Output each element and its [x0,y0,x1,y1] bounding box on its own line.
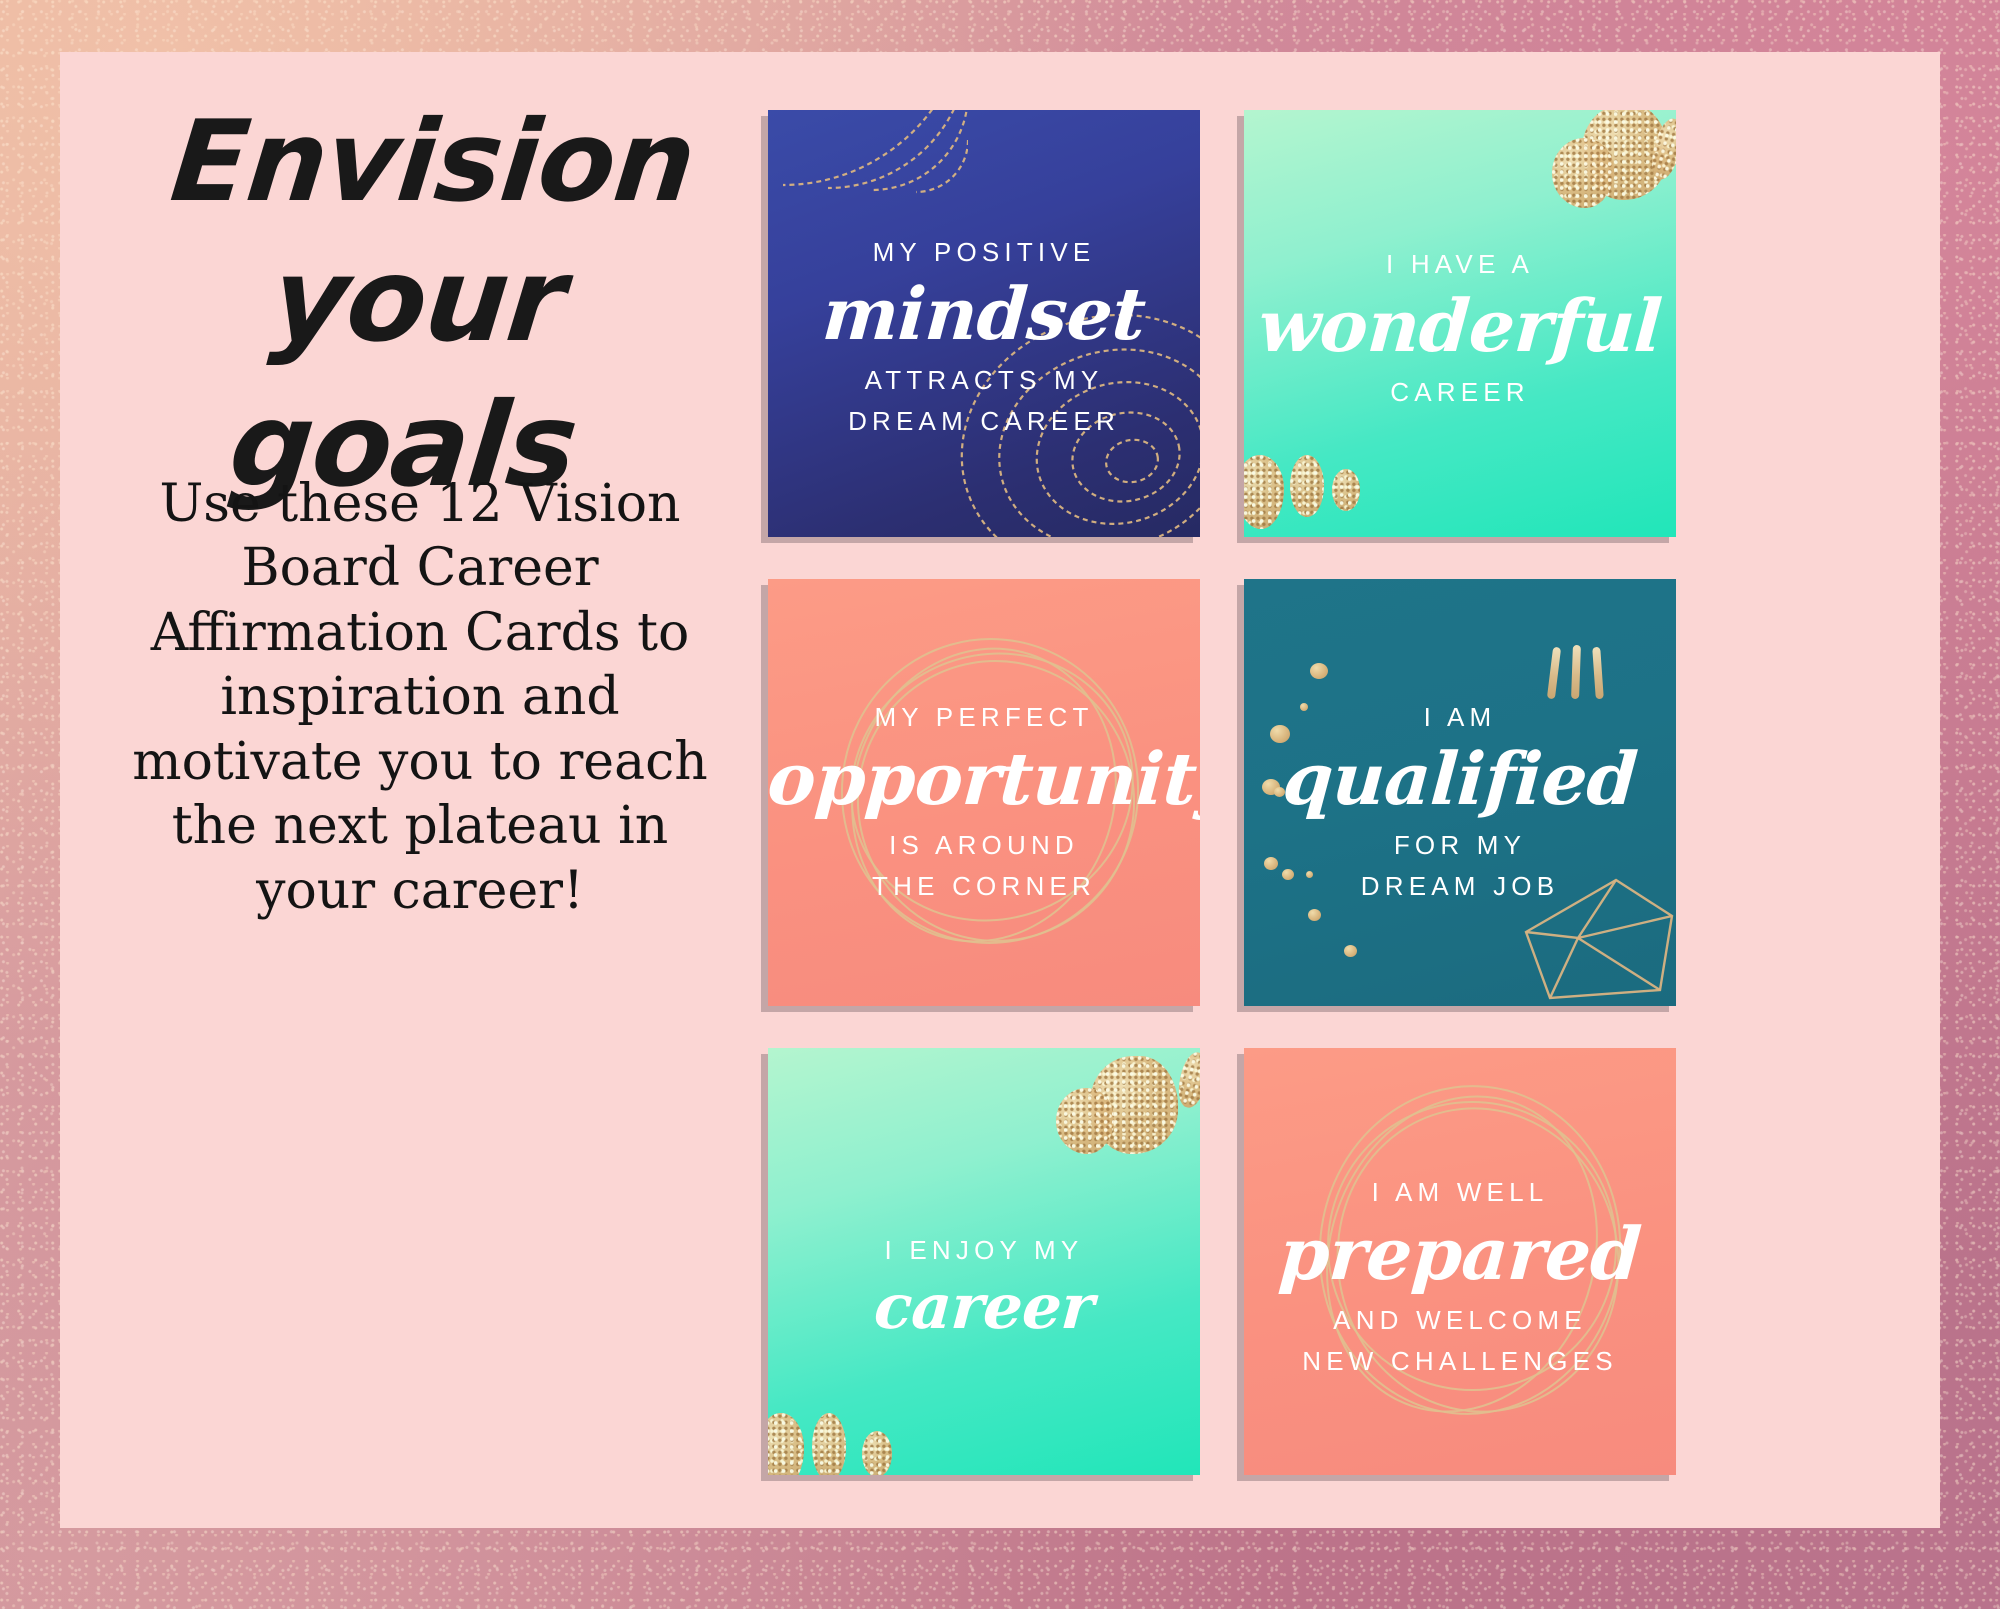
card-bottom-line-2: DREAM CAREER [768,401,1200,441]
page-title: Envision your goals [66,92,771,518]
card-top-caption: I AM WELL [1244,1172,1676,1212]
card-text-block: I ENJOY MY career [768,1230,1200,1348]
card-top-caption: I HAVE A [1244,244,1676,284]
gold-dot-10-icon [1344,945,1357,957]
gold-glitter-blob-bottom-left-3-icon [1332,469,1360,511]
gold-glitter-blob-top-right-3-icon [1174,1050,1200,1110]
card-bottom-line-2: NEW CHALLENGES [1244,1341,1676,1381]
gold-glitter-blob-bottom-left-3-icon [862,1431,892,1475]
headline-line-1: Envision [96,92,771,232]
gold-tick-1-icon [1547,647,1561,700]
card-script-word: opportunity [768,743,1200,815]
gold-tick-2-icon [1571,645,1581,699]
card-top-caption: I AM [1244,697,1676,737]
gold-dot-9-icon [1308,909,1321,921]
card-bottom-line-2: THE CORNER [768,866,1200,906]
affirmation-card-wonderful-career[interactable]: I HAVE A wonderful CAREER [1244,110,1676,537]
card-script-word: wonderful [1244,290,1676,362]
card-text-block: I AM WELL prepared AND WELCOME NEW CHALL… [1244,1172,1676,1381]
card-bottom-line-2: DREAM JOB [1244,866,1676,906]
gold-tick-3-icon [1592,647,1604,699]
card-bottom-line-1: FOR MY [1244,825,1676,865]
gold-glitter-blob-top-right-2-icon [1552,138,1614,208]
card-bottom-line-1: IS AROUND [768,825,1200,865]
card-top-caption: MY PERFECT [768,697,1200,737]
affirmation-card-perfect-opportunity[interactable]: MY PERFECT opportunity IS AROUND THE COR… [768,579,1200,1006]
card-text-block: MY PERFECT opportunity IS AROUND THE COR… [768,697,1200,906]
card-text-block: I HAVE A wonderful CAREER [1244,244,1676,413]
gold-glitter-blob-bottom-left-icon [1244,455,1284,529]
card-bottom-line-1: AND WELCOME [1244,1300,1676,1340]
affirmation-card-grid: MY POSITIVE mindset ATTRACTS MY DREAM CA… [768,110,1868,1470]
inner-pink-panel: Envision your goals Use these 12 Vision … [60,52,1940,1528]
left-text-column: Envision your goals Use these 12 Vision … [60,52,775,1528]
rose-gold-glitter-frame: Envision your goals Use these 12 Vision … [0,0,2000,1609]
affirmation-card-positive-mindset[interactable]: MY POSITIVE mindset ATTRACTS MY DREAM CA… [768,110,1200,537]
gold-glitter-blob-bottom-left-2-icon [812,1413,846,1475]
card-text-block: MY POSITIVE mindset ATTRACTS MY DREAM CA… [768,232,1200,441]
card-script-word: career [768,1276,1200,1338]
card-bottom-line-1: CAREER [1244,372,1676,412]
affirmation-card-well-prepared[interactable]: I AM WELL prepared AND WELCOME NEW CHALL… [1244,1048,1676,1475]
card-script-word: prepared [1244,1218,1676,1290]
card-script-word: mindset [768,278,1200,350]
gold-glitter-blob-top-right-2-icon [1056,1088,1114,1154]
affirmation-card-qualified-dream-job[interactable]: I AM qualified FOR MY DREAM JOB [1244,579,1676,1006]
gold-glitter-blob-bottom-left-2-icon [1290,455,1324,517]
card-bottom-line-1: ATTRACTS MY [768,360,1200,400]
gold-glitter-blob-bottom-left-icon [768,1413,804,1475]
card-top-caption: MY POSITIVE [768,232,1200,272]
card-top-caption: I ENJOY MY [768,1230,1200,1270]
gold-dot-1-icon [1310,663,1328,679]
card-script-word: qualified [1244,743,1676,815]
affirmation-card-enjoy-career[interactable]: I ENJOY MY career [768,1048,1200,1475]
card-text-block: I AM qualified FOR MY DREAM JOB [1244,697,1676,906]
description-paragraph: Use these 12 Vision Board Career Affirma… [106,472,734,923]
